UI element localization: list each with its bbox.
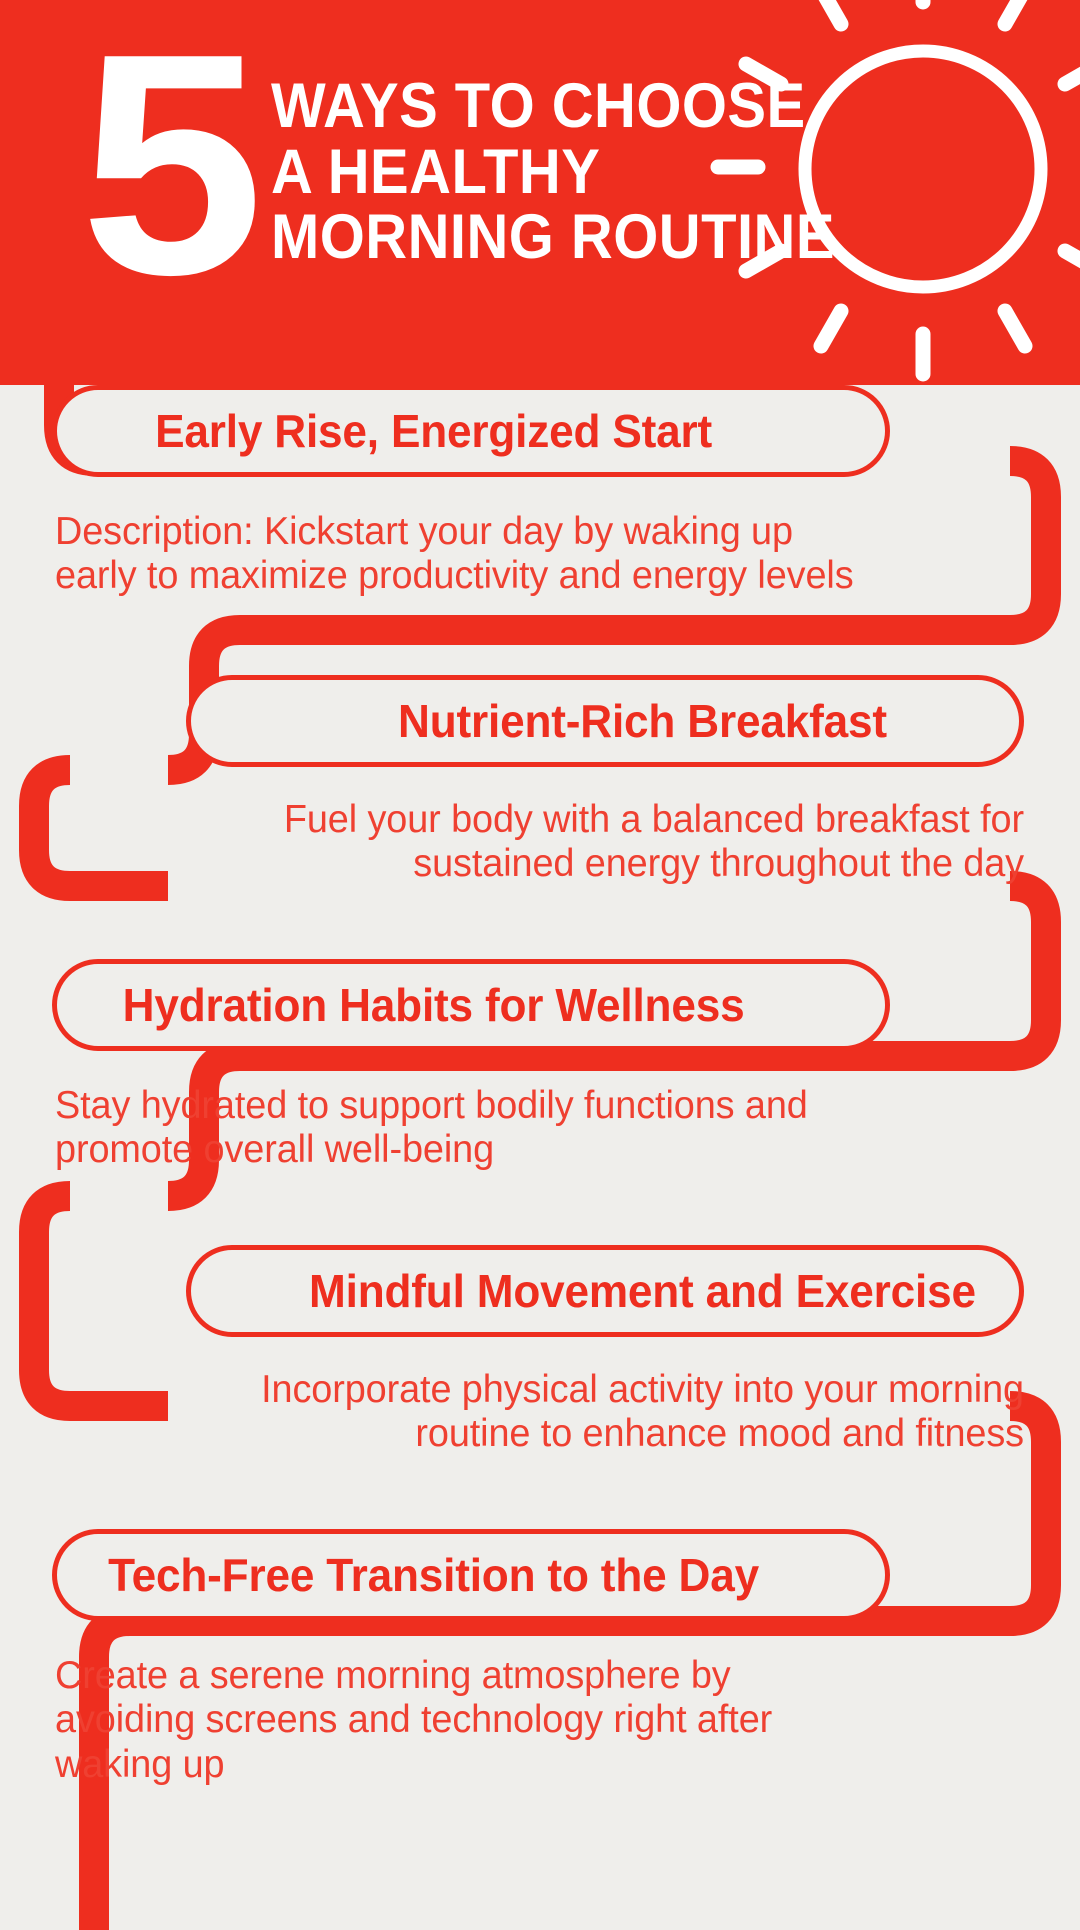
step-5-description: Create a serene morning atmosphere by av… — [55, 1654, 860, 1787]
step-5-title-pill[interactable]: Tech-Free Transition to the Day — [52, 1529, 890, 1621]
step-item-4: Mindful Movement and Exercise Incorporat… — [0, 1245, 1080, 1457]
step-4-title-pill[interactable]: Mindful Movement and Exercise — [186, 1245, 1024, 1337]
step-4-description: Incorporate physical activity into your … — [215, 1368, 1024, 1457]
step-2-title-pill[interactable]: Nutrient-Rich Breakfast — [186, 675, 1024, 767]
page-title-line-2: A HEALTHY — [271, 140, 835, 206]
step-4-title: Mindful Movement and Exercise — [208, 1268, 1003, 1314]
step-item-3: Hydration Habits for Wellness Stay hydra… — [0, 959, 1080, 1173]
step-item-1: Early Rise, Energized Start Description:… — [0, 385, 1080, 599]
page-title-line-1: WAYS TO CHOOSE — [271, 74, 835, 140]
step-item-2: Nutrient-Rich Breakfast Fuel your body w… — [0, 675, 1080, 887]
step-5-title: Tech-Free Transition to the Day — [74, 1552, 869, 1598]
step-3-title: Hydration Habits for Wellness — [74, 982, 869, 1028]
step-3-description: Stay hydrated to support bodily function… — [55, 1084, 860, 1173]
header-big-number: 5 — [80, 42, 253, 288]
header-banner: 5 WAYS TO CHOOSE A HEALTHY MORNING ROUTI… — [0, 0, 1080, 385]
step-item-5: Tech-Free Transition to the Day Create a… — [0, 1529, 1080, 1787]
step-1-description: Description: Kickstart your day by wakin… — [55, 510, 860, 599]
page-title-line-3: MORNING ROUTINE — [271, 205, 835, 271]
step-2-title: Nutrient-Rich Breakfast — [208, 698, 1003, 744]
page-title: WAYS TO CHOOSE A HEALTHY MORNING ROUTINE — [271, 74, 835, 271]
steps-list: Early Rise, Energized Start Description:… — [0, 385, 1080, 1787]
step-1-title: Early Rise, Energized Start — [74, 408, 869, 454]
step-3-title-pill[interactable]: Hydration Habits for Wellness — [52, 959, 890, 1051]
step-2-description: Fuel your body with a balanced breakfast… — [215, 798, 1024, 887]
header-content: 5 WAYS TO CHOOSE A HEALTHY MORNING ROUTI… — [80, 48, 884, 288]
step-1-title-pill[interactable]: Early Rise, Energized Start — [52, 385, 890, 477]
